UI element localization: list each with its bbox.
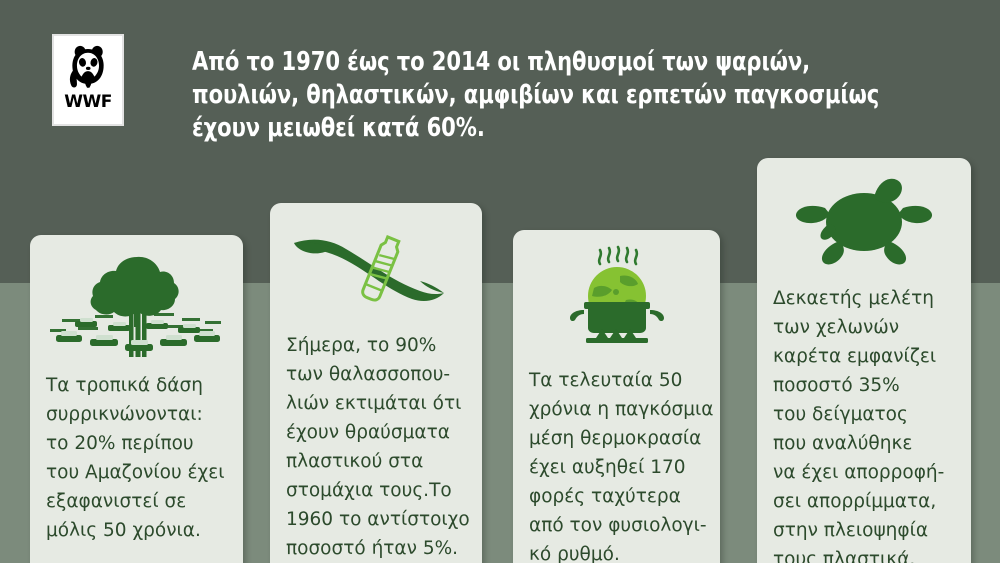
card4-line-8: σει απορρίμματα, [773, 487, 955, 516]
card-text-seabirds: Σήμερα, το 90% των θαλασσοπου- λιών εκτι… [270, 313, 482, 563]
seabird-plastic-bottle-icon [286, 221, 466, 313]
card3-line-3: μέση θερμοκρασία [529, 424, 704, 453]
card2-line-6: στομάχια τους.Το [286, 476, 466, 505]
fact-card-seabirds[interactable]: Σήμερα, το 90% των θαλασσοπου- λιών εκτι… [270, 203, 482, 563]
wwf-wordmark: WWF [64, 94, 112, 111]
card4-line-6: που αναλύθηκε [773, 429, 955, 458]
card1-line-4: του Αμαζονίου έχει [46, 458, 227, 487]
card3-line-6: από τον φυσιολογι- [529, 511, 704, 540]
card2-line-5: πλαστικού στα [286, 447, 466, 476]
globe-in-cooking-pot-icon [542, 244, 692, 346]
card3-line-1: Τα τελευταία 50 [529, 366, 704, 395]
card-text-temperature: Τα τελευταία 50 χρόνια η παγκόσμια μέση … [513, 346, 720, 563]
fact-card-turtles[interactable]: Δεκαετής μελέτη των χελωνών καρέτα εμφαν… [757, 158, 971, 563]
sea-turtle-icon [779, 174, 949, 266]
tree-deforestation-icon [42, 249, 232, 357]
fact-card-forests[interactable]: Τα τροπικά δάση συρρικνώνονται: το 20% π… [30, 235, 243, 563]
page-title: Από το 1970 έως το 2014 οι πληθυσμοί των… [192, 46, 836, 145]
card2-line-3: λιών εκτιμάται ότι [286, 389, 466, 418]
card1-line-1: Τα τροπικά δάση [46, 371, 227, 400]
card2-line-2: των θαλασσοπου- [286, 360, 466, 389]
headline-line-3: έχουν μειωθεί κατά 60%. [192, 112, 836, 145]
card4-line-7: να έχει απορροφή- [773, 458, 955, 487]
card-icon-wrap [30, 235, 243, 357]
card4-line-5: του δείγματος [773, 400, 955, 429]
card4-line-2: των χελωνών [773, 313, 955, 342]
card1-line-2: συρρικνώνονται: [46, 400, 227, 429]
card3-line-2: χρόνια η παγκόσμια [529, 395, 704, 424]
wwf-logo: WWF [52, 34, 124, 126]
card4-line-9: στην πλειοψηφία [773, 516, 955, 545]
card-icon-wrap [513, 230, 720, 346]
card3-line-4: έχει αυξηθεί 170 [529, 453, 704, 482]
card4-line-1: Δεκαετής μελέτη [773, 284, 955, 313]
card3-line-5: φορές ταχύτερα [529, 482, 704, 511]
infographic-canvas: WWF Από το 1970 έως το 2014 οι πληθυσμοί… [0, 0, 1000, 563]
card2-line-4: έχουν θραύσματα [286, 418, 466, 447]
card-icon-wrap [270, 203, 482, 313]
fact-card-temperature[interactable]: Τα τελευταία 50 χρόνια η παγκόσμια μέση … [513, 230, 720, 563]
card1-line-6: μόλις 50 χρόνια. [46, 516, 227, 545]
card2-line-1: Σήμερα, το 90% [286, 331, 466, 360]
card4-line-10: τους πλαστικά. [773, 545, 955, 563]
card4-line-4: ποσοστό 35% [773, 371, 955, 400]
card1-line-5: εξαφανιστεί σε [46, 487, 227, 516]
card4-line-3: καρέτα εμφανίζει [773, 342, 955, 371]
card3-line-7: κό ρυθμό. [529, 540, 704, 563]
headline-line-2: πουλιών, θηλαστικών, αμφιβίων και ερπετώ… [192, 79, 836, 112]
card1-line-3: το 20% περίπου [46, 429, 227, 458]
headline-line-1: Από το 1970 έως το 2014 οι πληθυσμοί των… [192, 46, 836, 79]
card-text-turtles: Δεκαετής μελέτη των χελωνών καρέτα εμφαν… [757, 266, 971, 563]
panda-icon [65, 41, 111, 93]
card-text-forests: Τα τροπικά δάση συρρικνώνονται: το 20% π… [30, 357, 243, 545]
card2-line-8: ποσοστό ήταν 5%. [286, 534, 466, 563]
card-icon-wrap [757, 158, 971, 266]
card2-line-7: 1960 το αντίστοιχο [286, 505, 466, 534]
